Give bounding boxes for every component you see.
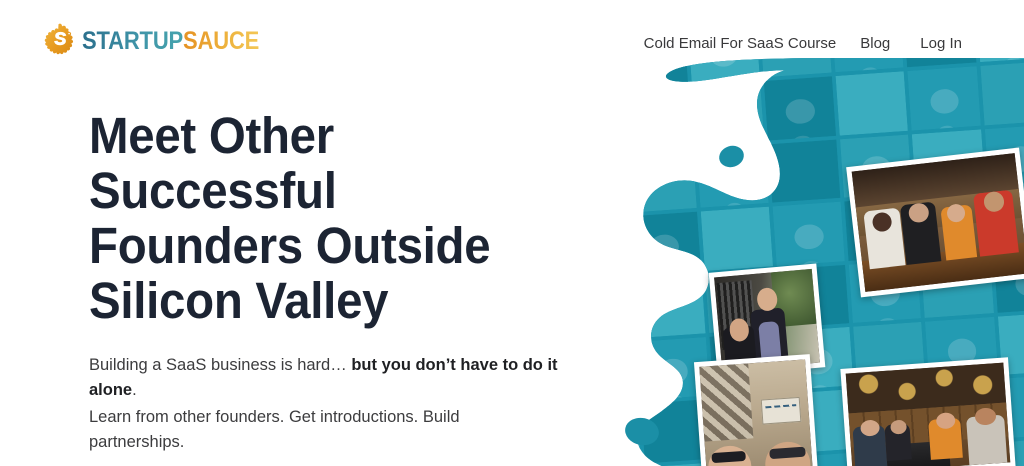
splat-s-icon <box>38 20 80 62</box>
nav-item-cold-email-course[interactable]: Cold Email For SaaS Course <box>644 31 837 56</box>
subcopy-normal-text: Building a SaaS business is hard… <box>89 356 351 374</box>
main-navigation: Cold Email For SaaS Course Blog Log In <box>644 31 1024 56</box>
hero-photo-collage <box>612 58 1024 466</box>
brand-wordmark: STARTUPSAUCE <box>82 29 259 54</box>
tile <box>632 274 705 338</box>
landing-page: STARTUPSAUCE Cold Email For SaaS Course … <box>0 0 1024 466</box>
tile <box>619 87 692 151</box>
site-header: STARTUPSAUCE Cold Email For SaaS Course … <box>0 0 1024 82</box>
group-at-table-photo <box>840 357 1015 466</box>
photo-illustration <box>846 363 1011 466</box>
tile <box>772 202 845 266</box>
tile <box>764 77 837 141</box>
brand-word-startup: STARTUP <box>82 27 183 55</box>
selfie-outside-photo <box>694 354 818 466</box>
photo-illustration <box>699 359 812 466</box>
brand-word-sauce: SAUCE <box>183 27 259 55</box>
nav-item-log-in[interactable]: Log In <box>920 31 962 56</box>
hero-subcopy-line-1: Building a SaaS business is hard… but yo… <box>89 353 559 403</box>
hero-subcopy-line-2: Learn from other founders. Get introduct… <box>89 405 559 455</box>
subcopy-period: . <box>132 381 137 399</box>
tile <box>624 149 697 213</box>
tile <box>700 207 773 271</box>
tile <box>691 82 764 146</box>
hero-content: Meet Other Successful Founders Outside S… <box>89 108 609 466</box>
blob-droplet-icon <box>716 143 746 171</box>
tile <box>628 212 701 276</box>
page-title: Meet Other Successful Founders Outside S… <box>89 108 573 328</box>
photo-illustration <box>852 153 1024 292</box>
tile <box>768 139 841 203</box>
brand-logo[interactable]: STARTUPSAUCE <box>38 19 283 63</box>
hero-subcopy: Building a SaaS business is hard… but yo… <box>89 353 559 455</box>
group-at-bar-photo <box>846 148 1024 298</box>
nav-item-blog[interactable]: Blog <box>860 31 890 56</box>
